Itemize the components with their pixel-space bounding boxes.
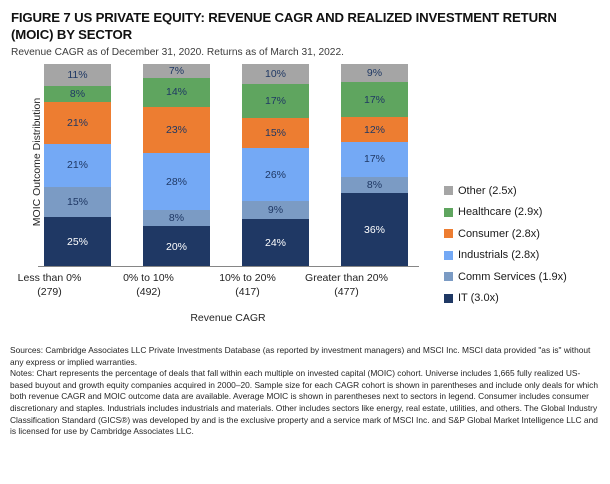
legend-item-label: IT (3.0x)	[458, 292, 499, 304]
bar-segment-comm-services-0[interactable]: 15%	[44, 187, 111, 217]
x-tick-count-3: (477)	[297, 285, 396, 299]
bar-segment-healthcare-2[interactable]: 17%	[242, 84, 309, 118]
bar-segment-it-2[interactable]: 24%	[242, 219, 309, 267]
legend-item-1[interactable]: Healthcare (2.9x)	[444, 202, 567, 224]
legend-item-label: Industrials (2.8x)	[458, 249, 539, 261]
bar-value-label: 14%	[166, 86, 187, 98]
bar-value-label: 9%	[268, 204, 283, 216]
bar-segment-industrials-1[interactable]: 28%	[143, 153, 210, 210]
bar-value-label: 8%	[70, 88, 85, 100]
legend-item-label: Comm Services (1.9x)	[458, 271, 567, 283]
x-tick-count-0: (279)	[0, 285, 99, 299]
bar-value-label: 17%	[364, 94, 385, 106]
bar-value-label: 26%	[265, 169, 286, 181]
x-axis-title: Revenue CAGR	[38, 312, 418, 324]
bar-value-label: 28%	[166, 176, 187, 188]
bar-segment-it-3[interactable]: 36%	[341, 193, 408, 267]
bar-segment-healthcare-1[interactable]: 14%	[143, 78, 210, 106]
legend-swatch-icon	[444, 251, 453, 260]
bar-value-label: 20%	[166, 241, 187, 253]
bar-value-label: 24%	[265, 237, 286, 249]
bar-value-label: 25%	[67, 236, 88, 248]
chart-legend: Other (2.5x)Healthcare (2.9x)Consumer (2…	[444, 180, 567, 309]
bar-value-label: 17%	[364, 153, 385, 165]
legend-swatch-icon	[444, 294, 453, 303]
bar-value-label: 10%	[265, 68, 286, 80]
legend-item-0[interactable]: Other (2.5x)	[444, 180, 567, 202]
legend-swatch-icon	[444, 229, 453, 238]
bar-value-label: 15%	[67, 196, 88, 208]
x-tick-label-0: Less than 0% (279)	[0, 271, 99, 299]
notes-note: Notes: Chart represents the percentage o…	[10, 368, 601, 438]
bar-value-label: 9%	[367, 67, 382, 79]
x-tick-category-2: 10% to 20%	[219, 272, 276, 284]
bar-value-label: 12%	[364, 124, 385, 136]
legend-item-5[interactable]: IT (3.0x)	[444, 288, 567, 310]
bar-segment-consumer-2[interactable]: 15%	[242, 118, 309, 148]
bar-segment-other-2[interactable]: 10%	[242, 64, 309, 84]
bar-segment-industrials-2[interactable]: 26%	[242, 148, 309, 200]
x-axis-line	[38, 266, 419, 267]
x-tick-label-2: 10% to 20% (417)	[198, 271, 297, 299]
bar-group-2[interactable]: 10%17%15%26%9%24%	[242, 64, 309, 267]
bar-segment-comm-services-2[interactable]: 9%	[242, 201, 309, 219]
bar-value-label: 15%	[265, 127, 286, 139]
x-tick-label-1: 0% to 10% (492)	[99, 271, 198, 299]
bar-segment-other-0[interactable]: 11%	[44, 64, 111, 86]
x-tick-category-0: Less than 0%	[18, 272, 82, 284]
bar-segment-consumer-1[interactable]: 23%	[143, 107, 210, 154]
bar-segment-it-0[interactable]: 25%	[44, 217, 111, 267]
bar-value-label: 36%	[364, 224, 385, 236]
bar-group-0[interactable]: 11%8%21%21%15%25%	[44, 64, 111, 267]
bar-value-label: 17%	[265, 95, 286, 107]
bar-segment-comm-services-1[interactable]: 8%	[143, 210, 210, 226]
bar-segment-comm-services-3[interactable]: 8%	[341, 177, 408, 193]
bar-value-label: 11%	[67, 69, 87, 81]
bar-value-label: 8%	[169, 212, 184, 224]
figure-header: FIGURE 7 US PRIVATE EQUITY: REVENUE CAGR…	[0, 0, 610, 59]
x-tick-count-1: (492)	[99, 285, 198, 299]
legend-item-3[interactable]: Industrials (2.8x)	[444, 245, 567, 267]
x-tick-category-1: 0% to 10%	[123, 272, 174, 284]
legend-item-label: Other (2.5x)	[458, 185, 517, 197]
bar-value-label: 21%	[67, 159, 88, 171]
legend-item-2[interactable]: Consumer (2.8x)	[444, 223, 567, 245]
bar-value-label: 21%	[67, 117, 88, 129]
bar-group-3[interactable]: 9%17%12%17%8%36%	[341, 64, 408, 267]
x-tick-category-3: Greater than 20%	[305, 272, 388, 284]
legend-item-4[interactable]: Comm Services (1.9x)	[444, 266, 567, 288]
legend-swatch-icon	[444, 186, 453, 195]
page-title: FIGURE 7 US PRIVATE EQUITY: REVENUE CAGR…	[11, 9, 598, 43]
footnotes: Sources: Cambridge Associates LLC Privat…	[0, 345, 610, 438]
chart-region: MOIC Outcome Distribution 11%8%21%21%15%…	[0, 56, 610, 341]
plot-area: 11%8%21%21%15%25%7%14%23%28%8%20%10%17%1…	[38, 62, 418, 267]
bar-segment-industrials-3[interactable]: 17%	[341, 142, 408, 177]
bar-group-1[interactable]: 7%14%23%28%8%20%	[143, 64, 210, 267]
bar-segment-healthcare-0[interactable]: 8%	[44, 86, 111, 102]
legend-item-label: Healthcare (2.9x)	[458, 206, 542, 218]
bar-segment-other-1[interactable]: 7%	[143, 64, 210, 78]
bar-segment-consumer-0[interactable]: 21%	[44, 102, 111, 144]
bar-value-label: 7%	[169, 65, 184, 77]
x-tick-label-3: Greater than 20% (477)	[297, 271, 396, 299]
bar-segment-consumer-3[interactable]: 12%	[341, 117, 408, 142]
x-tick-count-2: (417)	[198, 285, 297, 299]
legend-item-label: Consumer (2.8x)	[458, 228, 540, 240]
bar-value-label: 8%	[367, 179, 382, 191]
legend-swatch-icon	[444, 208, 453, 217]
bar-segment-industrials-0[interactable]: 21%	[44, 144, 111, 186]
bar-segment-healthcare-3[interactable]: 17%	[341, 82, 408, 117]
bar-segment-it-1[interactable]: 20%	[143, 226, 210, 267]
bar-segment-other-3[interactable]: 9%	[341, 64, 408, 82]
legend-swatch-icon	[444, 272, 453, 281]
sources-note: Sources: Cambridge Associates LLC Privat…	[10, 345, 601, 368]
bar-value-label: 23%	[166, 124, 187, 136]
